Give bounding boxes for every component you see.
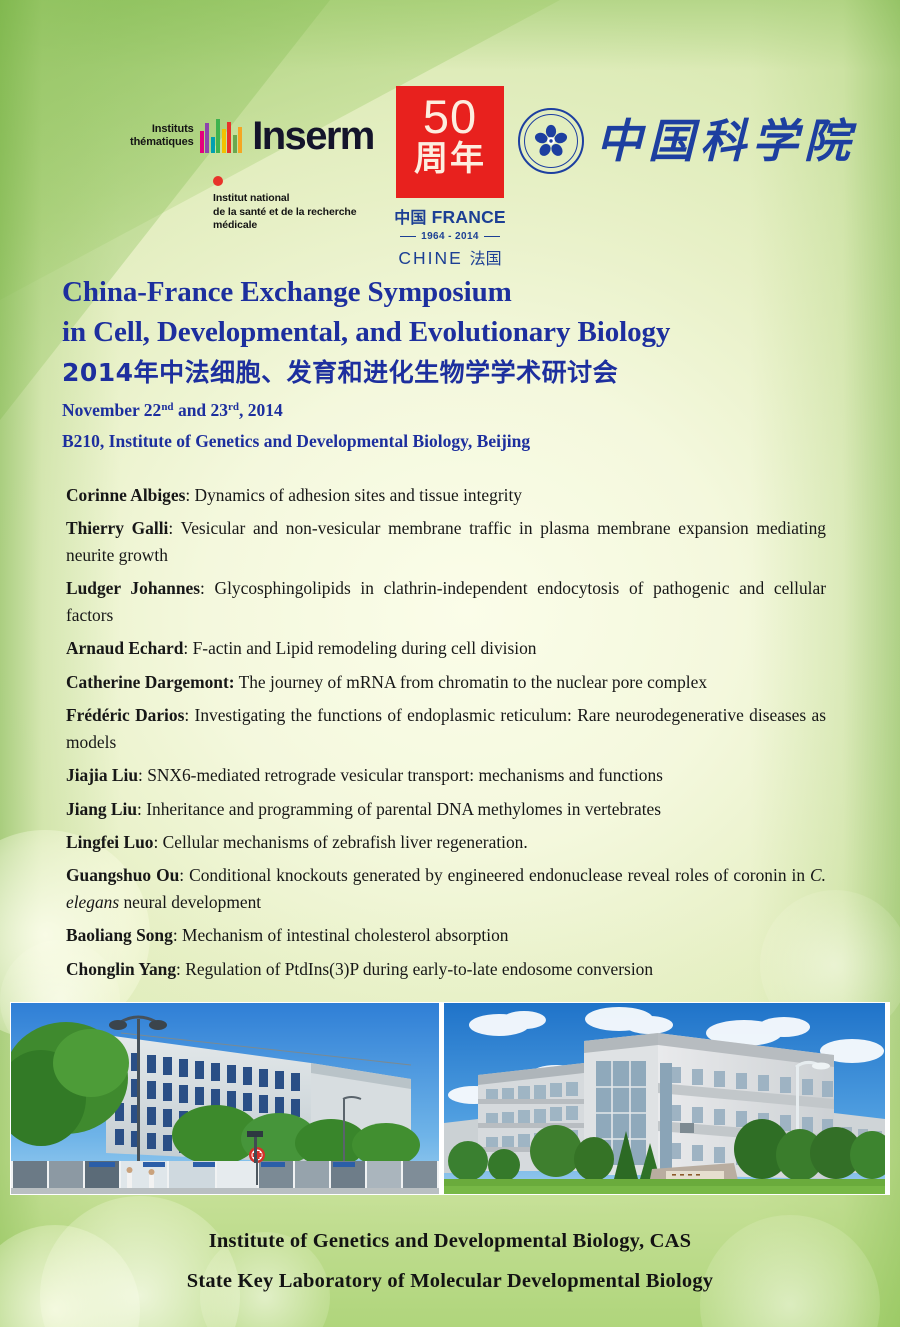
talk-item: Arnaud Echard: F-actin and Lipid remodel… — [66, 635, 826, 661]
talk-item: Corinne Albiges: Dynamics of adhesion si… — [66, 482, 826, 508]
cf50-years-row: 1964 - 2014 — [392, 231, 508, 242]
photo-paris-building — [11, 1003, 439, 1194]
talk-speaker-name: Corinne Albiges — [66, 485, 185, 505]
cas-chinese-name: 中国科学院 — [596, 118, 856, 164]
talk-title: Vesicular and non-vesicular membrane tra… — [66, 518, 826, 564]
photo-igdb-beijing-building — [444, 1003, 885, 1194]
conference-poster: Instituts thématiques Inserm Institut — [0, 0, 900, 1327]
organizer-footer: Institute of Genetics and Developmental … — [0, 1222, 900, 1302]
talk-title: Inheritance and programming of parental … — [146, 799, 661, 819]
talk-title: The journey of mRNA from chromatin to th… — [239, 672, 707, 692]
talk-speaker-name: Baoliang Song — [66, 925, 173, 945]
talk-item: Jiajia Liu: SNX6-mediated retrograde ves… — [66, 762, 826, 788]
inserm-wordmark: Inserm — [252, 118, 374, 154]
photo-strip — [10, 1002, 890, 1195]
talk-speaker-name: Jiang Liu — [66, 799, 137, 819]
talk-title: Regulation of PtdIns(3)P during early-to… — [185, 959, 653, 979]
talk-speaker-name: Frédéric Darios — [66, 705, 184, 725]
photo-igdb-beijing-image — [444, 1003, 885, 1194]
talk-title: Cellular mechanisms of zebrafish liver r… — [163, 832, 528, 852]
cas-plum-blossom-icon — [534, 124, 568, 158]
talk-item: Frédéric Darios: Investigating the funct… — [66, 702, 826, 755]
talk-title: Mechanism of intestinal cholesterol abso… — [182, 925, 508, 945]
talk-item: Catherine Dargemont: The journey of mRNA… — [66, 669, 826, 695]
talk-item: Jiang Liu: Inheritance and programming o… — [66, 796, 826, 822]
sponsor-logo-row: Instituts thématiques Inserm Institut — [0, 80, 900, 255]
photo-paris-building-image — [11, 1003, 439, 1194]
inserm-logo: Instituts thématiques Inserm Institut — [130, 118, 362, 230]
inserm-red-dot-icon — [213, 176, 223, 186]
cf50-numeral: 50 — [396, 93, 504, 140]
cf50-rule-left — [400, 236, 416, 238]
cf50-red-box: 50 周年 — [396, 86, 504, 198]
talk-speaker-name: Catherine Dargemont: — [66, 672, 235, 692]
chinese-academy-of-sciences-logo: 中国科学院 — [518, 108, 856, 174]
talk-speaker-name: Jiajia Liu — [66, 765, 138, 785]
talk-speaker-name: Chonglin Yang — [66, 959, 176, 979]
cas-seal-icon — [518, 108, 584, 174]
talk-item: Baoliang Song: Mechanism of intestinal c… — [66, 922, 826, 948]
talk-title: Dynamics of adhesion sites and tissue in… — [195, 485, 522, 505]
talk-speaker-name: Guangshuo Ou — [66, 865, 179, 885]
cf50-rule-right — [484, 236, 500, 238]
event-venue: B210, Institute of Genetics and Developm… — [62, 429, 852, 454]
inserm-bars-icon — [200, 119, 243, 153]
title-english-line2: in Cell, Developmental, and Evolutionary… — [62, 312, 852, 352]
talk-item: Ludger Johannes: Glycosphingolipids in c… — [66, 575, 826, 628]
talk-title: F-actin and Lipid remodeling during cell… — [193, 638, 537, 658]
talk-speaker-name: Arnaud Echard — [66, 638, 183, 658]
cf50-line-chine-fr: CHINE 法国 — [392, 245, 508, 269]
talk-title-italic-species: C. elegans — [66, 865, 826, 911]
event-date: November 22nd and 23rd, 2014 — [62, 398, 852, 423]
title-english-line1: China-France Exchange Symposium — [62, 272, 852, 312]
date-ordinal-1: nd — [161, 401, 173, 413]
talk-item: Chonglin Yang: Regulation of PtdIns(3)P … — [66, 956, 826, 982]
talk-item: Guangshuo Ou: Conditional knockouts gene… — [66, 862, 826, 915]
date-ordinal-2: rd — [228, 401, 239, 413]
talk-speaker-name: Lingfei Luo — [66, 832, 153, 852]
inserm-thematic-institutes-label: Instituts thématiques — [130, 123, 194, 149]
inserm-subtitle: Institut national de la santé et de la r… — [213, 192, 362, 233]
talk-title: SNX6-mediated retrograde vesicular trans… — [147, 765, 663, 785]
title-chinese: 2014年中法细胞、发育和进化生物学学术研讨会 — [62, 354, 852, 392]
cf50-line-china-france: 中国 FRANCE — [392, 204, 508, 228]
talk-title: Conditional knockouts generated by engin… — [66, 865, 826, 911]
cf50-years-label: 1964 - 2014 — [421, 231, 479, 242]
poster-title-block: China-France Exchange Symposium in Cell,… — [62, 272, 852, 454]
talk-speaker-name: Ludger Johannes — [66, 578, 200, 598]
footer-line-1: Institute of Genetics and Developmental … — [0, 1222, 900, 1262]
footer-line-2: State Key Laboratory of Molecular Develo… — [0, 1262, 900, 1302]
talk-speaker-name: Thierry Galli — [66, 518, 168, 538]
cf50-anniversary-chinese: 周年 — [396, 142, 504, 176]
talk-item: Lingfei Luo: Cellular mechanisms of zebr… — [66, 829, 826, 855]
china-france-50-logo: 50 周年 中国 FRANCE 1964 - 2014 CHINE 法国 — [392, 86, 508, 269]
talk-item: Thierry Galli: Vesicular and non-vesicul… — [66, 515, 826, 568]
speaker-talk-list: Corinne Albiges: Dynamics of adhesion si… — [66, 482, 826, 989]
